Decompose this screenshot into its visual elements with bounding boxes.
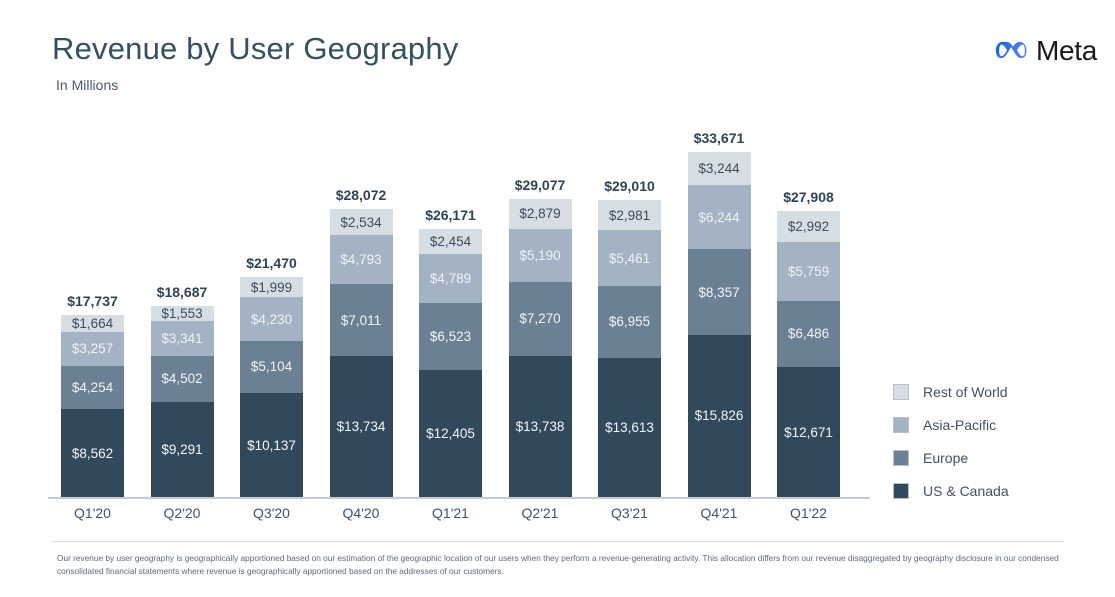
segment-value-label: $2,879: [519, 206, 560, 221]
segment-value-label: $5,190: [519, 248, 560, 263]
x-axis-tick-label: Q4'20: [330, 505, 393, 521]
bar-column[interactable]: $2,981$5,461$6,955$13,613: [598, 200, 661, 497]
segment-value-label: $8,357: [698, 285, 739, 300]
bar-segment[interactable]: $13,613: [598, 358, 661, 497]
segment-value-label: $4,254: [72, 380, 113, 395]
bar-segment[interactable]: $4,793: [330, 235, 393, 284]
segment-value-label: $12,405: [426, 426, 475, 441]
segment-value-label: $6,486: [788, 326, 829, 341]
segment-value-label: $5,461: [609, 251, 650, 266]
bar-column[interactable]: $2,879$5,190$7,270$13,738: [509, 199, 572, 497]
bar-segment[interactable]: $7,270: [509, 282, 572, 356]
segment-value-label: $12,671: [784, 425, 833, 440]
bar-column[interactable]: $1,999$4,230$5,104$10,137: [240, 277, 303, 497]
segment-value-label: $4,789: [430, 271, 471, 286]
x-axis-line: [48, 497, 870, 499]
bar-segment[interactable]: $15,826: [688, 335, 751, 497]
segment-value-label: $6,955: [609, 314, 650, 329]
bar-segment[interactable]: $1,664: [61, 315, 124, 332]
legend-swatch-icon: [893, 417, 909, 433]
bar-segment[interactable]: $6,955: [598, 286, 661, 357]
bar-segment[interactable]: $5,190: [509, 229, 572, 282]
segment-value-label: $4,793: [340, 252, 381, 267]
x-axis-tick-label: Q2'21: [509, 505, 572, 521]
footnote-divider: [52, 541, 1064, 542]
bar-segment[interactable]: $2,992: [777, 211, 840, 242]
footnote-text: Our revenue by user geography is geograp…: [57, 552, 1067, 578]
bar-total-label: $26,171: [419, 207, 482, 223]
bar-column[interactable]: $2,534$4,793$7,011$13,734: [330, 209, 393, 497]
segment-value-label: $2,992: [788, 219, 829, 234]
bar-segment[interactable]: $4,789: [419, 254, 482, 303]
segment-value-label: $2,454: [430, 234, 471, 249]
segment-value-label: $6,244: [698, 210, 739, 225]
bar-segment[interactable]: $2,981: [598, 200, 661, 231]
x-axis-tick-label: Q1'22: [777, 505, 840, 521]
segment-value-label: $2,981: [609, 208, 650, 223]
segment-value-label: $13,738: [516, 419, 565, 434]
segment-value-label: $10,137: [247, 438, 296, 453]
legend-label: Europe: [923, 450, 968, 466]
bar-segment[interactable]: $13,738: [509, 356, 572, 497]
bar-total-label: $18,687: [151, 284, 214, 300]
segment-value-label: $2,534: [340, 215, 381, 230]
bar-total-label: $21,470: [240, 255, 303, 271]
bar-column[interactable]: $3,244$6,244$8,357$15,826: [688, 152, 751, 497]
segment-value-label: $13,613: [605, 420, 654, 435]
bar-segment[interactable]: $4,254: [61, 366, 124, 410]
bar-segment[interactable]: $8,562: [61, 409, 124, 497]
legend-swatch-icon: [893, 384, 909, 400]
bar-segment[interactable]: $5,461: [598, 230, 661, 286]
bar-column[interactable]: $2,992$5,759$6,486$12,671: [777, 211, 840, 497]
bar-total-label: $33,671: [688, 130, 751, 146]
bar-segment[interactable]: $1,553: [151, 306, 214, 322]
bar-segment[interactable]: $4,502: [151, 356, 214, 402]
bar-segment[interactable]: $5,759: [777, 242, 840, 301]
segment-value-label: $6,523: [430, 329, 471, 344]
bar-segment[interactable]: $12,671: [777, 367, 840, 497]
legend-item[interactable]: Rest of World: [893, 375, 1103, 408]
bar-total-label: $27,908: [777, 189, 840, 205]
bar-segment[interactable]: $8,357: [688, 249, 751, 335]
segment-value-label: $9,291: [161, 442, 202, 457]
chart-legend: Rest of WorldAsia-PacificEuropeUS & Cana…: [893, 375, 1103, 507]
bar-column[interactable]: $2,454$4,789$6,523$12,405: [419, 229, 482, 497]
legend-item[interactable]: US & Canada: [893, 474, 1103, 507]
bar-column[interactable]: $1,664$3,257$4,254$8,562: [61, 315, 124, 497]
bar-segment[interactable]: $1,999: [240, 277, 303, 297]
segment-value-label: $8,562: [72, 446, 113, 461]
bar-segment[interactable]: $3,341: [151, 321, 214, 355]
segment-value-label: $3,244: [698, 161, 739, 176]
segment-value-label: $7,011: [341, 313, 381, 328]
bar-segment[interactable]: $3,244: [688, 152, 751, 185]
legend-swatch-icon: [893, 450, 909, 466]
segment-value-label: $5,104: [251, 359, 292, 374]
bar-total-label: $29,010: [598, 178, 661, 194]
bar-segment[interactable]: $12,405: [419, 370, 482, 497]
bar-segment[interactable]: $13,734: [330, 356, 393, 497]
bar-segment[interactable]: $6,523: [419, 303, 482, 370]
segment-value-label: $3,341: [161, 331, 202, 346]
segment-value-label: $4,502: [161, 371, 202, 386]
bar-segment[interactable]: $4,230: [240, 297, 303, 340]
x-axis-tick-label: Q1'21: [419, 505, 482, 521]
legend-label: Rest of World: [923, 384, 1008, 400]
bar-total-label: $29,077: [509, 177, 572, 193]
bar-total-label: $17,737: [61, 293, 124, 309]
segment-value-label: $3,257: [72, 341, 113, 356]
segment-value-label: $4,230: [251, 312, 292, 327]
bar-segment[interactable]: $6,486: [777, 301, 840, 367]
bar-segment[interactable]: $3,257: [61, 332, 124, 365]
bar-total-label: $28,072: [330, 187, 393, 203]
bar-segment[interactable]: $5,104: [240, 341, 303, 393]
bar-segment[interactable]: $2,534: [330, 209, 393, 235]
x-axis-tick-label: Q3'20: [240, 505, 303, 521]
legend-label: US & Canada: [923, 483, 1009, 499]
bar-segment[interactable]: $9,291: [151, 402, 214, 497]
segment-value-label: $1,553: [161, 306, 202, 321]
x-axis-tick-label: Q4'21: [688, 505, 751, 521]
segment-value-label: $15,826: [695, 408, 744, 423]
x-axis-tick-label: Q2'20: [151, 505, 214, 521]
bar-segment[interactable]: $2,879: [509, 199, 572, 228]
segment-value-label: $7,270: [519, 311, 560, 326]
bar-segment[interactable]: $10,137: [240, 393, 303, 497]
x-axis-tick-label: Q3'21: [598, 505, 661, 521]
legend-label: Asia-Pacific: [923, 417, 996, 433]
legend-swatch-icon: [893, 483, 909, 499]
x-axis-tick-label: Q1'20: [61, 505, 124, 521]
bar-segment[interactable]: $2,454: [419, 229, 482, 254]
bar-column[interactable]: $1,553$3,341$4,502$9,291: [151, 306, 214, 497]
legend-item[interactable]: Europe: [893, 441, 1103, 474]
segment-value-label: $13,734: [337, 419, 386, 434]
legend-item[interactable]: Asia-Pacific: [893, 408, 1103, 441]
segment-value-label: $5,759: [788, 264, 829, 279]
bar-segment[interactable]: $6,244: [688, 185, 751, 249]
segment-value-label: $1,999: [251, 280, 292, 295]
segment-value-label: $1,664: [72, 316, 113, 331]
bar-segment[interactable]: $7,011: [330, 284, 393, 356]
